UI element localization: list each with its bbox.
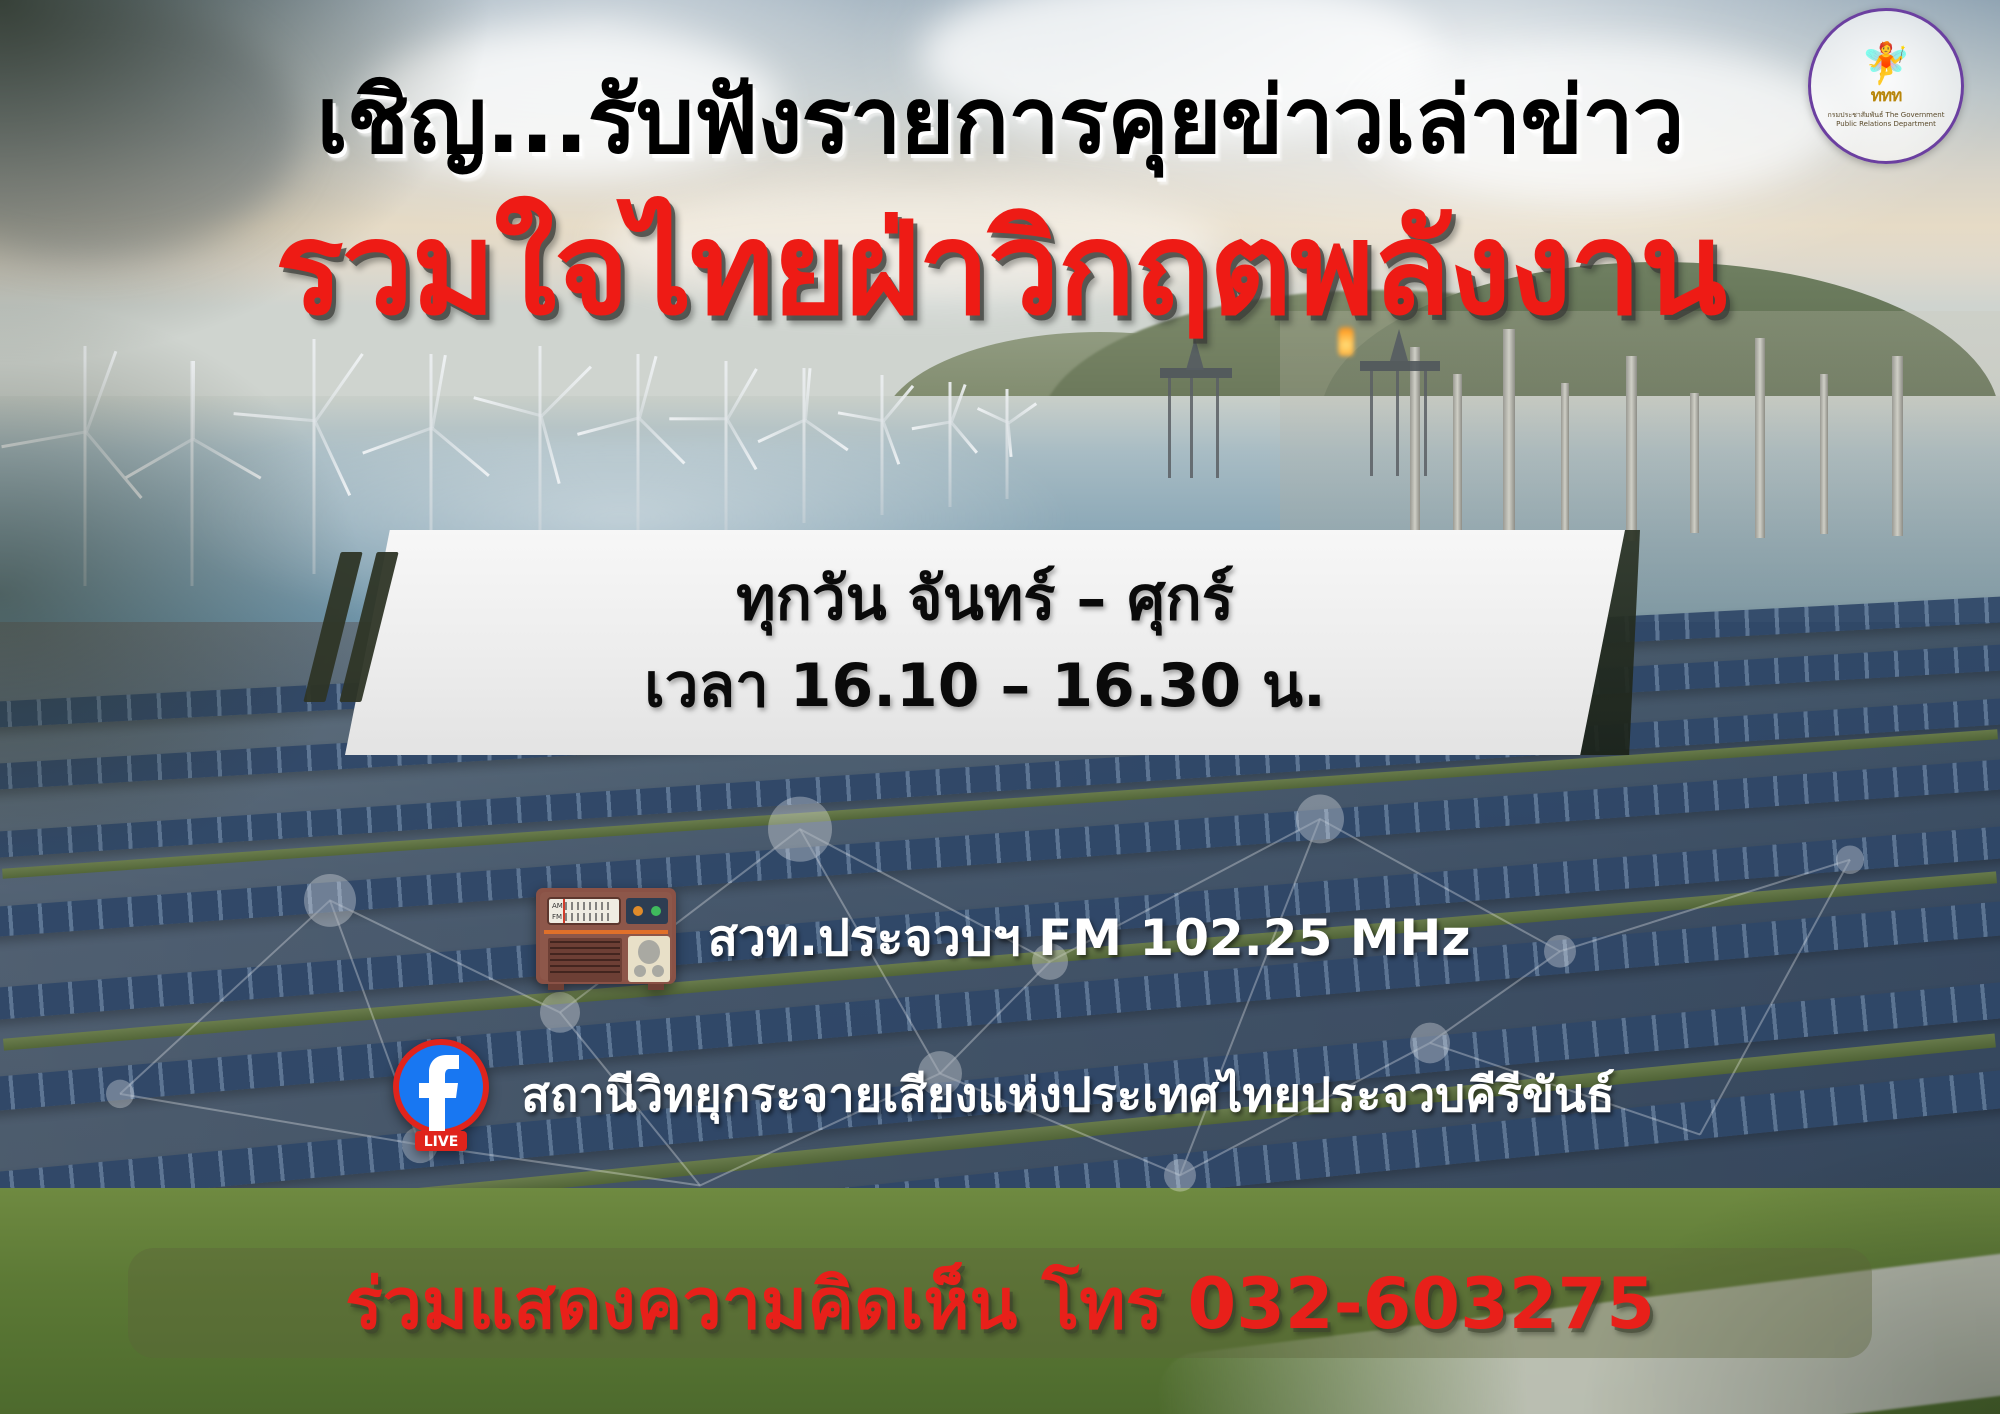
refinery-stack [1453,374,1462,539]
refinery-stack [1626,356,1637,541]
headline-main: รวมใจไทยฝ่าวิกฤตพลังงาน [0,196,2000,343]
station-fm-text: สวท.ประจวบฯ FM 102.25 MHz [708,899,1471,978]
refinery-stack [1503,329,1515,544]
fm-row: AM FM [0,880,2000,996]
banner-text-block: ทุกวัน จันทร์ – ศุกร์ เวลา 16.10 – 16.30… [345,530,1625,755]
oil-rig [1160,368,1232,478]
wind-turbine [860,375,904,515]
facebook-row: LIVE สถานีวิทยุกระจายเสียงแห่งประเทศไทยป… [0,1035,2000,1153]
wind-turbine [990,389,1024,499]
schedule-days: ทุกวัน จันทร์ – ศุกร์ [736,556,1234,643]
station-name-text: สถานีวิทยุกระจายเสียงแห่งประเทศไทยประจวบ… [521,1057,1615,1132]
wind-turbine [510,346,570,546]
schedule-time: เวลา 16.10 – 16.30 น. [644,643,1326,730]
refinery-stack [1820,374,1828,534]
refinery-stack [1892,356,1903,536]
contact-phone-text: ร่วมแสดงความคิดเห็น โทร 032-603275 [345,1248,1655,1359]
radio-icon: AM FM [530,880,682,996]
facebook-live-icon[interactable]: LIVE [385,1035,497,1153]
refinery-stack [1755,338,1765,538]
wind-turbine [610,354,666,539]
wind-turbine [700,361,752,531]
wind-turbine [930,382,970,507]
svg-text:AM: AM [552,902,563,910]
live-badge-label: LIVE [424,1134,459,1150]
wind-turbine [780,368,828,523]
refinery-stack [1690,393,1699,533]
schedule-banner: ทุกวัน จันทร์ – ศุกร์ เวลา 16.10 – 16.30… [0,530,2000,755]
headline-invite: เชิญ...รับฟังรายการคุยข่าวเล่าข่าว [0,68,2000,174]
contact-bar: ร่วมแสดงความคิดเห็น โทร 032-603275 [128,1248,1872,1358]
poster-root: 🧚 ททท กรมประชาสัมพันธ์ The Government Pu… [0,0,2000,1414]
refinery-stack [1561,383,1569,533]
svg-text:FM: FM [552,913,562,921]
oil-rig [1360,361,1440,476]
